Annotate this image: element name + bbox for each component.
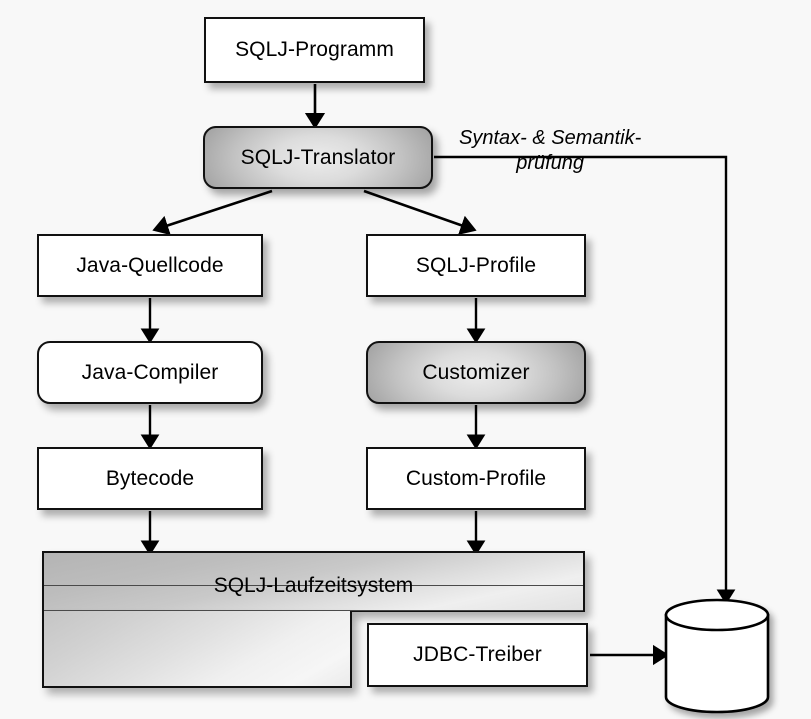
annotation-syntax-semantik-pruefung: Syntax- & Semantik- prüfung <box>459 126 641 176</box>
node-java-quellcode[interactable]: Java-Quellcode <box>37 234 263 297</box>
node-java-compiler[interactable]: Java-Compiler <box>37 341 263 404</box>
node-sqlj-programm[interactable]: SQLJ-Programm <box>204 17 425 83</box>
annotation-line-1: Syntax- & Semantik- <box>459 126 641 151</box>
node-sqlj-profile[interactable]: SQLJ-Profile <box>366 234 586 297</box>
edge-translator-profile <box>364 191 469 228</box>
edge-translator-quellcode <box>160 191 272 228</box>
database-cylinder[interactable] <box>660 598 786 719</box>
node-jdbc-treiber[interactable]: JDBC-Treiber <box>367 623 588 687</box>
sqlj-runtime-lower-bar <box>42 611 352 688</box>
node-custom-profile[interactable]: Custom-Profile <box>366 447 586 510</box>
annotation-line-2: prüfung <box>459 151 641 176</box>
sqlj-laufzeitsystem-label: SQLJ-Laufzeitsystem <box>42 574 585 598</box>
node-sqlj-translator[interactable]: SQLJ-Translator <box>203 126 433 189</box>
runtime-divider-2 <box>44 610 583 611</box>
node-bytecode[interactable]: Bytecode <box>37 447 263 510</box>
sqlj-architecture-diagram: SQLJ-Laufzeitsystem SQLJ-Programm SQLJ-T… <box>0 0 811 719</box>
node-customizer[interactable]: Customizer <box>366 341 586 404</box>
